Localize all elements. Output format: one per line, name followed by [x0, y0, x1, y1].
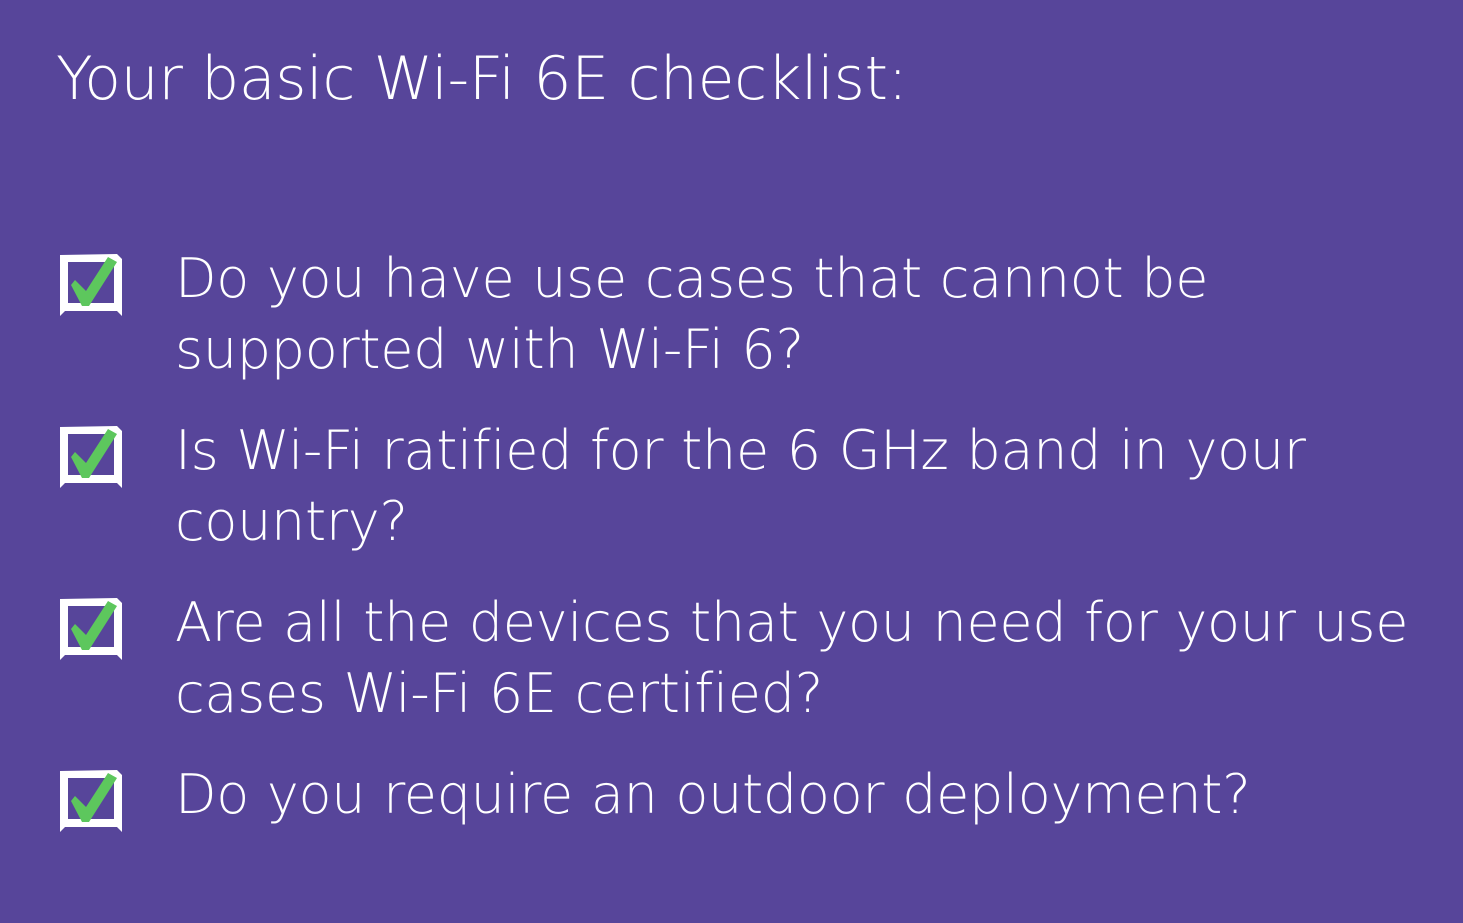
list-item-label: Are all the devices that you need for yo… — [175, 587, 1436, 729]
list-item-label: Is Wi-Fi ratified for the 6 GHz band in … — [175, 415, 1436, 557]
checked-checkbox-icon[interactable] — [60, 770, 122, 832]
checked-checkbox-icon[interactable] — [60, 598, 122, 660]
checklist-slide: Your basic Wi-Fi 6E checklist: Do you ha… — [0, 0, 1463, 923]
list-item[interactable]: Do you have use cases that cannot be sup… — [56, 243, 1436, 385]
list-item[interactable]: Is Wi-Fi ratified for the 6 GHz band in … — [56, 415, 1436, 557]
list-item[interactable]: Do you require an outdoor deployment? — [56, 759, 1436, 830]
checked-checkbox-icon[interactable] — [60, 254, 122, 316]
checklist: Do you have use cases that cannot be sup… — [56, 243, 1436, 830]
list-item-label: Do you have use cases that cannot be sup… — [175, 243, 1436, 385]
list-item-label: Do you require an outdoor deployment? — [175, 759, 1436, 830]
page-title: Your basic Wi-Fi 6E checklist: — [56, 42, 1396, 116]
list-item[interactable]: Are all the devices that you need for yo… — [56, 587, 1436, 729]
checked-checkbox-icon[interactable] — [60, 426, 122, 488]
